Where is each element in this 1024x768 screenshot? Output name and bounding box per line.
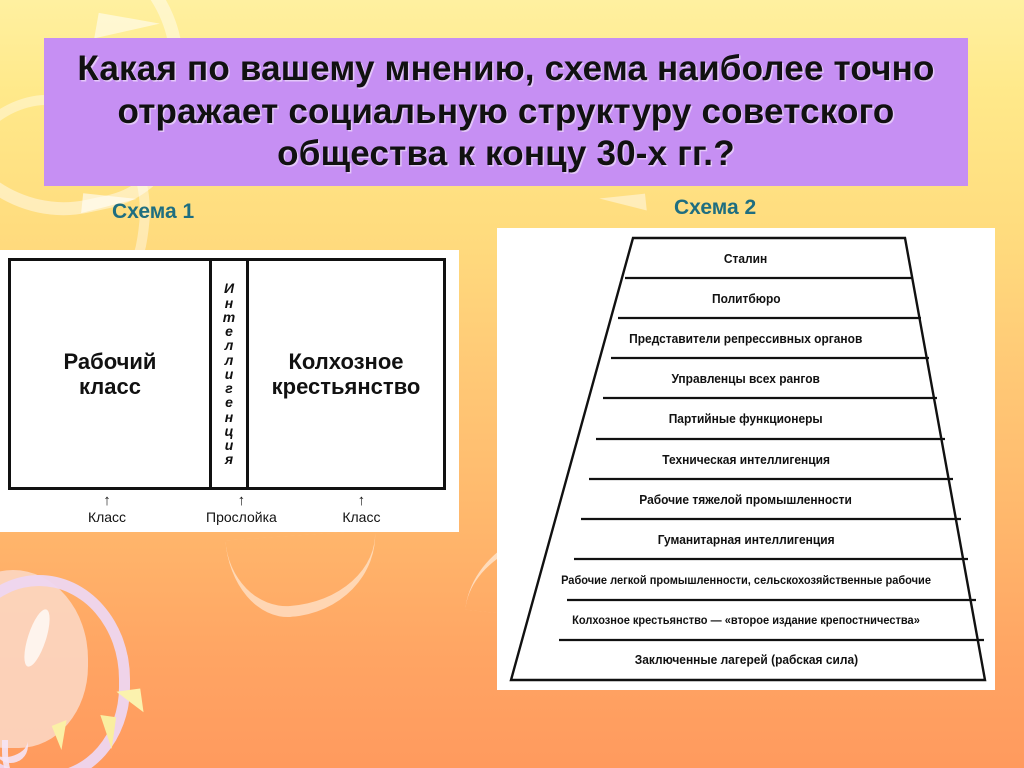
intelligentsia-letter: я — [225, 452, 233, 466]
pyramid-level: Представители репрессивных органов — [497, 318, 995, 358]
pyramid-level-label: Гуманитарная интеллигенция — [658, 532, 835, 547]
scheme-2-caption: Схема 2 — [674, 196, 756, 220]
up-arrow-icon: ↑ — [238, 494, 246, 507]
pyramid-level: Партийные функционеры — [497, 399, 995, 439]
pyramid-level-label: Колхозное крестьянство — «второе издание… — [572, 613, 920, 627]
pyramid-level-label: Представители репрессивных органов — [629, 331, 862, 346]
intelligentsia-letter: е — [225, 324, 233, 338]
pyramid-level: Управленцы всех рангов — [497, 359, 995, 399]
pyramid-level: Сталин — [497, 238, 995, 278]
intelligentsia-letter: и — [225, 438, 234, 452]
working-class-label: Рабочий класс — [64, 349, 157, 400]
scheme-1-legend: ↑ Класс ↑ Прослойка ↑ Класс — [8, 494, 446, 524]
intelligentsia-letter: ц — [224, 424, 233, 438]
scheme-1-cell-working-class: Рабочий класс — [11, 261, 209, 487]
confetti-triangle-3 — [116, 688, 143, 715]
up-arrow-icon: ↑ — [358, 494, 366, 507]
collective-peasantry-label: Колхозное крестьянство — [272, 349, 421, 400]
peasantry-line-2: крестьянство — [272, 374, 421, 399]
pyramid-level-label: Заключенные лагерей (рабская сила) — [634, 652, 857, 667]
confetti-triangle-1 — [52, 720, 77, 750]
title-banner: Какая по вашему мнению, схема наиболее т… — [44, 38, 968, 186]
intelligentsia-vertical-label: И н т е л л и г е н ц и я — [223, 281, 235, 466]
pyramid-level: Техническая интеллигенция — [497, 439, 995, 479]
working-class-line-1: Рабочий — [64, 349, 157, 374]
legend-label: Прослойка — [206, 509, 277, 525]
pyramid-level: Колхозное крестьянство — «второе издание… — [497, 600, 995, 640]
pyramid-level-label: Рабочие легкой промышленности, сельскохо… — [561, 573, 931, 587]
pyramid-level-label: Управленцы всех рангов — [672, 371, 820, 386]
balloon-string — [2, 740, 52, 768]
pyramid-level: Гуманитарная интеллигенция — [497, 519, 995, 559]
intelligentsia-letter: л — [225, 353, 234, 367]
intelligentsia-letter: т — [223, 310, 235, 324]
intelligentsia-letter: н — [225, 410, 233, 424]
intelligentsia-letter: е — [225, 395, 233, 409]
slide-canvas: Какая по вашему мнению, схема наиболее т… — [0, 0, 1024, 768]
scheme-1-caption: Схема 1 — [112, 200, 194, 224]
intelligentsia-letter: н — [225, 296, 233, 310]
legend-item-class-left: ↑ Класс — [8, 494, 206, 524]
slide-title: Какая по вашему мнению, схема наиболее т… — [44, 48, 968, 176]
scheme-2-panel: Сталин Политбюро Представители репрессив… — [497, 228, 995, 690]
up-arrow-icon: ↑ — [103, 494, 111, 507]
intelligentsia-letter: г — [225, 381, 232, 395]
pyramid-level-label: Рабочие тяжелой промышленности — [640, 492, 853, 507]
balloon-knot — [0, 725, 33, 768]
pyramid-level: Рабочие легкой промышленности, сельскохо… — [497, 560, 995, 600]
pyramid-level: Политбюро — [497, 278, 995, 318]
balloon-highlight — [19, 607, 55, 670]
working-class-line-2: класс — [79, 374, 141, 399]
scheme-1-cell-intelligentsia: И н т е л л и г е н ц и я — [209, 261, 249, 487]
legend-item-layer: ↑ Прослойка — [206, 494, 277, 524]
legend-item-class-right: ↑ Класс — [277, 494, 446, 524]
confetti-triangle-2 — [96, 715, 116, 749]
legend-label: Класс — [342, 509, 380, 525]
pyramid-level-label: Сталин — [724, 251, 767, 266]
intelligentsia-letter: л — [225, 338, 234, 352]
peasantry-line-1: Колхозное — [288, 349, 403, 374]
balloon-outline-icon — [0, 575, 130, 768]
pyramid-level: Заключенные лагерей (рабская сила) — [497, 640, 995, 680]
triangle-decoration-mid-right — [599, 194, 647, 216]
scheme-1-cell-collective-peasantry: Колхозное крестьянство — [249, 261, 443, 487]
pyramid-level-label: Политбюро — [712, 291, 781, 306]
pyramid-level: Рабочие тяжелой промышленности — [497, 479, 995, 519]
balloon-icon — [0, 570, 88, 748]
intelligentsia-letter: И — [224, 281, 234, 295]
legend-label: Класс — [88, 509, 126, 525]
pyramid-levels: Сталин Политбюро Представители репрессив… — [497, 238, 995, 680]
scheme-1-panel: Рабочий класс И н т е л л и г е н ц и — [0, 250, 459, 532]
pyramid-level-label: Техническая интеллигенция — [662, 452, 830, 467]
intelligentsia-letter: и — [225, 367, 234, 381]
ribbon-decoration-left — [225, 530, 380, 621]
pyramid-level-label: Партийные функционеры — [669, 411, 823, 426]
scheme-1-diagram: Рабочий класс И н т е л л и г е н ц и — [8, 258, 446, 490]
